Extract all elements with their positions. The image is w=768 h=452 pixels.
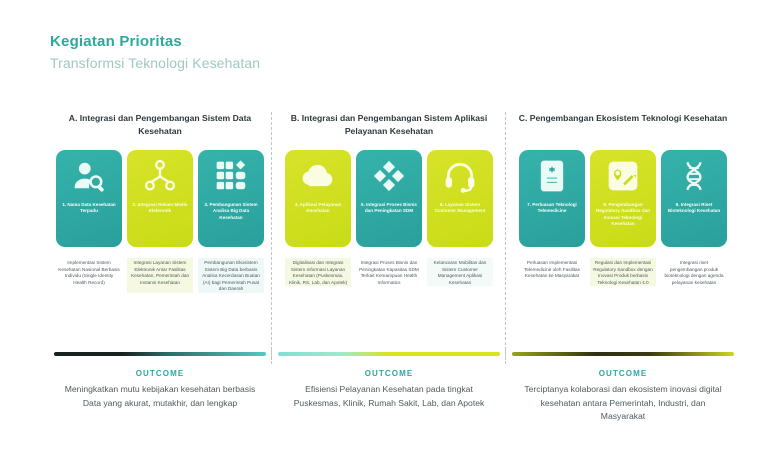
headset-icon: [443, 159, 477, 193]
diamond-cluster-icon: [372, 159, 406, 193]
card-a-2-label: 2. Integrasi Rekam Medis Elektronik: [127, 202, 193, 215]
column-b-descriptions: Digitalisasi dan Integrasi Sistem Inform…: [278, 258, 500, 286]
card-b-2-label: 5. Integrasi Proses Bisnis dan Peningkat…: [356, 202, 422, 215]
card-c-2[interactable]: 8. Pengembangan Regulatory Sandbox dan I…: [590, 150, 656, 247]
column-b-cards: 4. Aplikasi Pelayanan Kesehatan 5. Integ…: [278, 150, 500, 247]
outcome-c: OUTCOME Terciptanya kolaborasi dan ekosi…: [506, 352, 740, 424]
column-c: C. Pengembangan Ekosistem Teknologi Kese…: [506, 112, 740, 293]
document-medical-icon: [535, 159, 569, 193]
outcomes-container: OUTCOME Meningkatkan mutu kebijakan kese…: [48, 352, 740, 424]
card-c-1-label: 7. Perluasan Teknologi Telemedicine: [519, 202, 585, 215]
outcome-a-bar: [54, 352, 266, 356]
grid-blocks-icon: [214, 159, 248, 193]
outcome-b-bar: [278, 352, 500, 356]
column-b-title: B. Integrasi dan Pengembangan Sistem Apl…: [278, 112, 500, 142]
outcome-b-text: Efisiensi Pelayanan Kesehatan pada tingk…: [278, 383, 500, 410]
card-b-3-label: 6. Layanan Sistem Customer Management: [427, 202, 493, 215]
column-a-descriptions: Implementasi Sistem Kesehatan Nasional B…: [54, 258, 266, 293]
dna-icon: [677, 159, 711, 193]
card-b-2[interactable]: 5. Integrasi Proses Bisnis dan Peningkat…: [356, 150, 422, 247]
cloud-icon: [301, 159, 335, 193]
page-title: Kegiatan Prioritas: [50, 33, 260, 51]
card-a-1[interactable]: 1. Nama Data Kesehatan Terpadu: [56, 150, 122, 247]
column-c-title: C. Pengembangan Ekosistem Teknologi Kese…: [512, 112, 734, 142]
outcome-c-bar: [512, 352, 734, 356]
card-a-2[interactable]: 2. Integrasi Rekam Medis Elektronik: [127, 150, 193, 247]
desc-a-3: Pembangunan Ekosistem Sistem Big Data be…: [198, 258, 264, 293]
network-share-icon: [143, 159, 177, 193]
desc-b-3: Kelancaran Mobilitas dan Sistem Customer…: [427, 258, 493, 286]
person-search-icon: [72, 159, 106, 193]
desc-c-2: Regulasi dan Implementasi Regulatory San…: [590, 258, 656, 286]
card-a-3[interactable]: 3. Pembangunan Sistem Analisa Big Data K…: [198, 150, 264, 247]
card-c-1[interactable]: 7. Perluasan Teknologi Telemedicine: [519, 150, 585, 247]
card-c-3[interactable]: 9. Integrasi Riset Bioteknologi Kesehata…: [661, 150, 727, 247]
outcome-b-label: OUTCOME: [278, 369, 500, 378]
outcome-c-label: OUTCOME: [512, 369, 734, 378]
outcome-c-text: Terciptanya kolaborasi dan ekosistem ino…: [512, 383, 734, 424]
card-a-3-label: 3. Pembangunan Sistem Analisa Big Data K…: [198, 202, 264, 221]
column-c-descriptions: Perluasan Implementasi Telemedicine oleh…: [512, 258, 734, 286]
desc-c-1: Perluasan Implementasi Telemedicine oleh…: [519, 258, 585, 286]
columns-container: A. Integrasi dan Pengembangan Sistem Dat…: [48, 112, 740, 293]
desc-b-1: Digitalisasi dan Integrasi Sistem Inform…: [285, 258, 351, 286]
column-a: A. Integrasi dan Pengembangan Sistem Dat…: [48, 112, 272, 293]
desc-a-1: Implementasi Sistem Kesehatan Nasional B…: [56, 258, 122, 293]
card-b-3[interactable]: 6. Layanan Sistem Customer Management: [427, 150, 493, 247]
column-a-title: A. Integrasi dan Pengembangan Sistem Dat…: [54, 112, 266, 142]
card-c-2-label: 8. Pengembangan Regulatory Sandbox dan I…: [590, 202, 656, 228]
desc-c-3: Integrasi riset pengembangan produk biot…: [661, 258, 727, 286]
desc-a-2: Integrasi Layanan Sistem Elektronik Anta…: [127, 258, 193, 293]
column-c-cards: 7. Perluasan Teknologi Telemedicine 8. P…: [512, 150, 734, 247]
page-subtitle: Transformsi Teknologi Kesehatan: [50, 53, 260, 73]
card-c-3-label: 9. Integrasi Riset Bioteknologi Kesehata…: [661, 202, 727, 215]
outcome-b: OUTCOME Efisiensi Pelayanan Kesehatan pa…: [272, 352, 506, 424]
outcome-a: OUTCOME Meningkatkan mutu kebijakan kese…: [48, 352, 272, 424]
desc-b-2: Integrasi Proses Bisnis dan Peningkatan …: [356, 258, 422, 286]
header: Kegiatan Prioritas Transformsi Teknologi…: [50, 33, 260, 73]
card-a-1-label: 1. Nama Data Kesehatan Terpadu: [56, 202, 122, 215]
column-a-cards: 1. Nama Data Kesehatan Terpadu 2. Integr…: [54, 150, 266, 247]
outcome-a-label: OUTCOME: [54, 369, 266, 378]
outcome-a-text: Meningkatkan mutu kebijakan kesehatan be…: [54, 383, 266, 410]
map-pin-chart-icon: [606, 159, 640, 193]
card-b-1[interactable]: 4. Aplikasi Pelayanan Kesehatan: [285, 150, 351, 247]
card-b-1-label: 4. Aplikasi Pelayanan Kesehatan: [285, 202, 351, 215]
column-b: B. Integrasi dan Pengembangan Sistem Apl…: [272, 112, 506, 293]
